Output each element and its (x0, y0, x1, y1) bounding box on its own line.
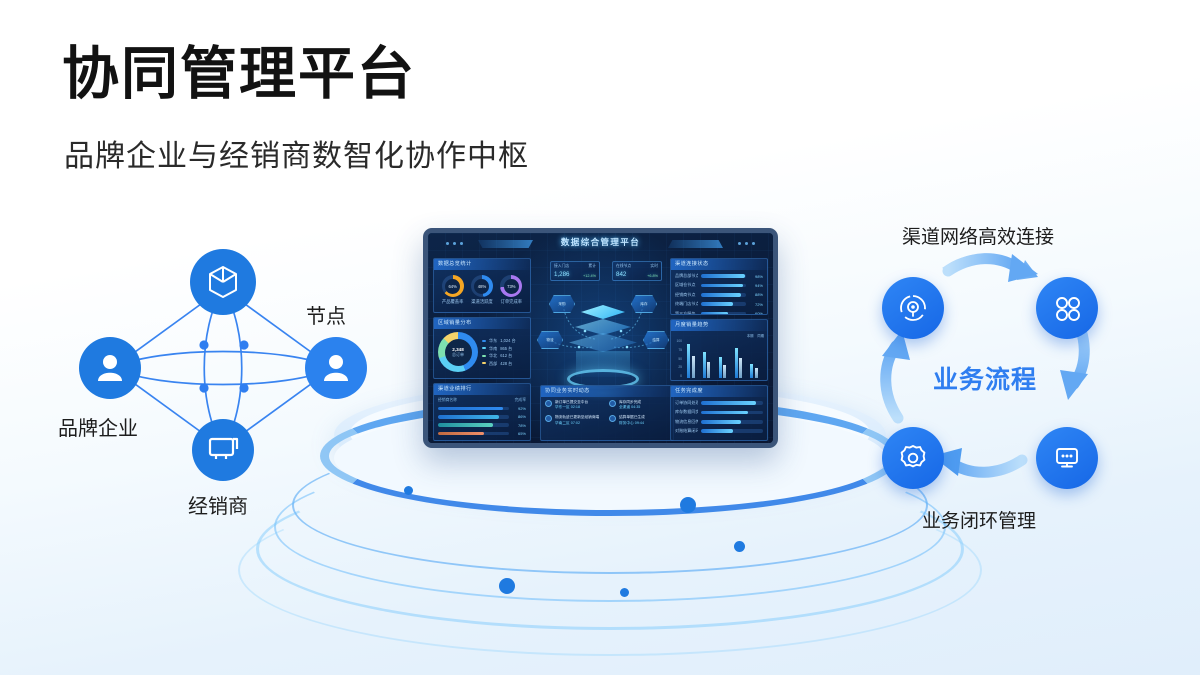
gauge-item: 64% 产品覆盖率 (442, 275, 464, 305)
gauge-value: 73% (504, 279, 519, 294)
accent-dot (734, 541, 745, 552)
panel-distribution-title: 区域销量分布 (434, 318, 530, 329)
gauge-value: 48% (474, 279, 489, 294)
panel-gauges[interactable]: 数据总览统计 64% 产品覆盖率 48% (433, 258, 531, 313)
info-item: 库存同步完成 全渠道 04:35 (609, 400, 669, 410)
cycle-node-grid[interactable] (1036, 277, 1098, 339)
holo-node[interactable]: 采购 (549, 295, 575, 313)
network-node-left[interactable] (79, 337, 141, 399)
page-subtitle: 品牌企业与经销商数智化协作中枢 (64, 131, 529, 175)
connect-row: 品牌总部节点 98% (675, 273, 763, 279)
panel-connect-status[interactable]: 渠道连接状态 品牌总部节点 98% 区域仓节点 94% 经销商节点 (670, 258, 768, 315)
ranking-row: 78% (438, 423, 526, 428)
info-item: 物流轨迹已更新至经销商端 华南二区 07:02 (545, 415, 605, 425)
legend-item: 华北 612 台 (482, 352, 516, 360)
panel-bar-title: 月度销量趋势 (671, 320, 767, 331)
task-row: 库存数据同步 (675, 409, 763, 415)
slide-canvas: 协同管理平台 品牌企业与经销商数智化协作中枢 (0, 0, 1200, 675)
header-band-left (478, 240, 533, 248)
ranking-row: 92% (438, 406, 526, 411)
ranking-row: 86% (438, 414, 526, 419)
info-item: 新订单已提交至中台 华东一区 02:18 (545, 400, 605, 410)
bar-chart-xaxis: 华东 华南 华北 西南 西北 (683, 380, 762, 381)
holo-node[interactable]: 结算 (643, 331, 669, 349)
dashboard-title: 数据综合管理平台 (561, 236, 640, 248)
network-label-brand: 品牌企业 (58, 412, 138, 441)
panel-task-progress[interactable]: 任务完成度 订单协同处理 库存数据同步 物流信息回传 (670, 385, 768, 441)
target-location-icon (898, 293, 928, 323)
header-dots-left (446, 242, 463, 245)
gauge-label: 产品覆盖率 (442, 299, 464, 305)
network-label-dealer: 经销商 (188, 490, 248, 519)
panel-info-title: 协同业务实时动态 (541, 386, 673, 397)
panel-info-feed[interactable]: 协同业务实时动态 新订单已提交至中台 华东一区 02:18 库存同步完成 全渠道… (540, 385, 674, 441)
bar-legend-item: 同期 (757, 333, 764, 338)
legend-item: 西部 428 台 (482, 360, 516, 368)
panel-bar-chart[interactable]: 月度销量趋势 本期 同期 100 75 50 25 0 (670, 319, 768, 381)
accent-dot (499, 578, 515, 594)
connect-row: 区域仓节点 94% (675, 282, 763, 288)
bar-chart-plot: 100 75 50 25 0 (674, 339, 764, 381)
kpi-value: 1,286 (554, 271, 569, 278)
four-dots-grid-icon (1053, 294, 1081, 322)
network-node-bottom[interactable] (192, 419, 254, 481)
page-title: 协同管理平台 (62, 45, 416, 105)
task-row: 物流信息回传 (675, 419, 763, 425)
header-band-right (668, 240, 723, 248)
monitor-dots-icon (1052, 443, 1082, 473)
info-icon (609, 415, 616, 422)
data-core-hologram: 采购 库存 物流 结算 (533, 281, 673, 401)
accent-dot (680, 497, 696, 513)
kpi-delta: +6.8% (647, 274, 658, 278)
info-icon (545, 400, 552, 407)
ranking-row: 54% (438, 440, 526, 441)
info-icon (609, 400, 616, 407)
cycle-node-target[interactable] (882, 277, 944, 339)
gauge-label: 订单完成率 (500, 299, 522, 305)
gauge-item: 48% 渠道活跃度 (471, 275, 493, 305)
gear-icon (898, 443, 928, 473)
panel-distribution[interactable]: 区域销量分布 2,348 总订单 华东 1,024 台 华南 (433, 317, 531, 379)
accent-dot (404, 486, 413, 495)
header-dots-right (738, 242, 755, 245)
ranking-col-value: 完成率 (515, 398, 526, 403)
gauge-item: 73% 订单完成率 (500, 275, 522, 305)
panel-task-title: 任务完成度 (671, 386, 767, 397)
holo-node[interactable]: 库存 (631, 295, 657, 313)
panel-connect-title: 渠道连接状态 (671, 259, 767, 270)
bar-chart-yaxis: 100 75 50 25 0 (674, 339, 682, 378)
gauge-value: 64% (445, 279, 460, 294)
bar-chart-bars (683, 341, 762, 378)
network-node-top[interactable] (190, 249, 256, 315)
kpi-card[interactable]: 接入门店 累计 1,286 +12.4% (550, 261, 600, 281)
business-process-cycle: 渠道网络高效连接 业务闭环管理 (860, 222, 1110, 537)
connect-row: 终端门店节点 72% (675, 301, 763, 307)
distribution-donut: 2,348 总订单 (438, 332, 478, 372)
bar-legend-item: 本期 (747, 333, 754, 338)
panel-ranking[interactable]: 渠道业绩排行 经销商名称 完成率 92% 86% (433, 383, 531, 441)
network-label-node: 节点 (306, 300, 346, 329)
gauge-label: 渠道活跃度 (471, 299, 493, 305)
accent-dot (620, 588, 629, 597)
kpi-value: 842 (616, 271, 626, 278)
ranking-col-name: 经销商名称 (438, 398, 457, 403)
task-row: 订单协同处理 (675, 400, 763, 406)
panel-gauges-title: 数据总览统计 (434, 259, 530, 270)
legend-item: 华南 865 台 (482, 345, 516, 353)
donut-center-label: 总订单 (452, 352, 464, 358)
distribution-legend: 华东 1,024 台 华南 865 台 华北 612 台 西部 428 台 (482, 337, 516, 367)
connect-row: 第三方服务 60% (675, 311, 763, 315)
cycle-node-monitor[interactable] (1036, 427, 1098, 489)
holo-node[interactable]: 物流 (537, 331, 563, 349)
task-row: 对账结算闭环 (675, 428, 763, 434)
dashboard-monitor: 数据综合管理平台 数据总览统计 64% 产品覆盖率 (423, 228, 778, 448)
panel-ranking-title: 渠道业绩排行 (434, 384, 530, 395)
cycle-center-label: 业务流程 (933, 360, 1037, 396)
dashboard-screen: 数据综合管理平台 数据总览统计 64% 产品覆盖率 (428, 233, 773, 443)
dashboard-header: 数据综合管理平台 (428, 233, 773, 255)
info-item: 结算单据已生成 财务中心 09:44 (609, 415, 669, 425)
cycle-node-gear[interactable] (882, 427, 944, 489)
info-icon (545, 415, 552, 422)
kpi-card[interactable]: 在线节点 实时 842 +6.8% (612, 261, 662, 281)
legend-item: 华东 1,024 台 (482, 337, 516, 345)
connect-row: 经销商节点 88% (675, 292, 763, 298)
kpi-delta: +12.4% (583, 274, 596, 278)
ranking-row: 65% (438, 431, 526, 436)
